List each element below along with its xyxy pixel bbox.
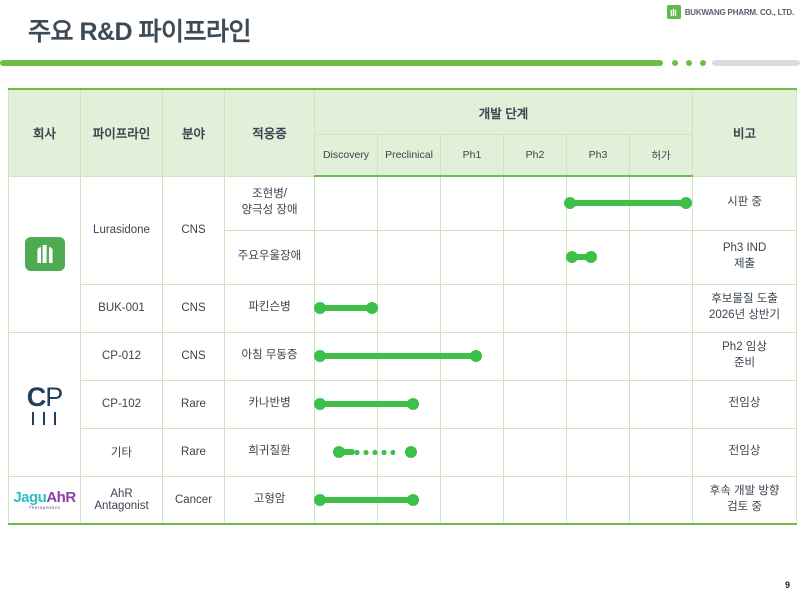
column-header-company: 회사 <box>9 89 81 176</box>
pipeline-cell: BUK-001 <box>81 284 163 332</box>
pipeline-cell: AhR Antagonist <box>81 476 163 524</box>
bukwang-logo-icon <box>25 237 65 271</box>
divider-dot <box>686 60 692 66</box>
field-cell: Rare <box>163 428 225 476</box>
column-header-note: 비고 <box>693 89 797 176</box>
stage-cell-ph2 <box>504 476 567 524</box>
divider-inactive-bar <box>712 60 800 66</box>
note-line: 2026년 상반기 <box>693 308 796 324</box>
note-line: 제출 <box>693 257 796 273</box>
stage-cell-ph2 <box>504 230 567 284</box>
stage-cell-approval <box>630 332 693 380</box>
page-title: 주요 R&D 파이프라인 <box>28 12 251 48</box>
stage-cell-ph2 <box>504 284 567 332</box>
indication-line: 조현병/ <box>225 187 314 203</box>
header-divider <box>0 59 800 67</box>
indication-cell: 희귀질환 <box>225 428 315 476</box>
table-body: Lurasidone CNS 조현병/ 양극성 장애 시판 중 주요우울장애 <box>9 176 797 524</box>
stage-cell-discovery <box>315 476 378 524</box>
therapeutics-logo-text: Therapeutics <box>29 506 61 511</box>
field-cell: Cancer <box>163 476 225 524</box>
stage-cell-preclinical <box>378 176 441 230</box>
stage-cell-ph1 <box>441 230 504 284</box>
column-header-pipeline: 파이프라인 <box>81 89 163 176</box>
indication-cell: 카나반병 <box>225 380 315 428</box>
note-line: 후보물질 도출 <box>693 292 796 308</box>
note-line: 시판 중 <box>693 195 796 211</box>
note-line: 후속 개발 방향 <box>693 484 796 500</box>
stage-cell-discovery <box>315 176 378 230</box>
stage-cell-ph3 <box>567 476 630 524</box>
field-cell: CNS <box>163 332 225 380</box>
stage-cell-ph2 <box>504 176 567 230</box>
company-cell-jaguahr: JaguAhR Therapeutics <box>9 476 81 524</box>
column-header-stage-approval: 허가 <box>630 135 693 177</box>
bukwang-logo-icon <box>667 5 681 19</box>
pipeline-cell: 기타 <box>81 428 163 476</box>
stage-cell-preclinical <box>378 230 441 284</box>
stage-cell-ph3 <box>567 284 630 332</box>
field-cell: CNS <box>163 284 225 332</box>
stage-cell-ph3 <box>567 230 630 284</box>
company-cell-bukwang <box>9 176 81 332</box>
table-row: JaguAhR Therapeutics AhR Antagonist Canc… <box>9 476 797 524</box>
table-row: CP CP-012 CNS 아침 무동증 Ph2 임상 준비 <box>9 332 797 380</box>
brand-name: BUKWANG PHARM. CO., LTD. <box>685 8 794 17</box>
stage-cell-approval <box>630 284 693 332</box>
table-header: 회사 파이프라인 분야 적응증 개발 단계 비고 Discovery Precl… <box>9 89 797 176</box>
stage-cell-discovery <box>315 284 378 332</box>
divider-accent-bar <box>0 60 663 66</box>
cp-logo-icon: CP <box>27 384 63 425</box>
stage-cell-preclinical <box>378 476 441 524</box>
stage-cell-discovery <box>315 230 378 284</box>
stage-cell-ph2 <box>504 428 567 476</box>
stage-cell-approval <box>630 230 693 284</box>
company-brand: BUKWANG PHARM. CO., LTD. <box>667 5 794 19</box>
field-cell: Rare <box>163 380 225 428</box>
table-row: Lurasidone CNS 조현병/ 양극성 장애 시판 중 <box>9 176 797 230</box>
stage-cell-approval <box>630 176 693 230</box>
note-cell: Ph2 임상 준비 <box>693 332 797 380</box>
stage-cell-discovery <box>315 332 378 380</box>
indication-cell: 고형암 <box>225 476 315 524</box>
note-line: Ph2 임상 <box>693 340 796 356</box>
stage-cell-ph2 <box>504 332 567 380</box>
stage-cell-ph1 <box>441 428 504 476</box>
pipeline-line: Antagonist <box>81 500 162 512</box>
column-header-stage-preclinical: Preclinical <box>378 135 441 177</box>
column-header-stage-group: 개발 단계 <box>315 89 693 135</box>
company-cell-cp: CP <box>9 332 81 476</box>
stage-cell-preclinical <box>378 380 441 428</box>
stage-cell-discovery <box>315 380 378 428</box>
note-line: 준비 <box>693 356 796 372</box>
pipeline-cell: CP-102 <box>81 380 163 428</box>
indication-cell: 파킨슨병 <box>225 284 315 332</box>
stage-cell-ph3 <box>567 176 630 230</box>
ahr-logo-text: AhR <box>46 489 75 506</box>
divider-dot <box>700 60 706 66</box>
indication-cell: 주요우울장애 <box>225 230 315 284</box>
stage-cell-ph2 <box>504 380 567 428</box>
stage-cell-approval <box>630 380 693 428</box>
table-row: BUK-001 CNS 파킨슨병 후보물질 도출 2026년 상반기 <box>9 284 797 332</box>
note-cell: Ph3 IND 제출 <box>693 230 797 284</box>
note-cell: 시판 중 <box>693 176 797 230</box>
table-row: 기타 Rare 희귀질환 전임상 <box>9 428 797 476</box>
jagu-logo-text: Jagu <box>13 489 46 506</box>
note-cell: 전임상 <box>693 380 797 428</box>
stage-cell-preclinical <box>378 284 441 332</box>
page-number: 9 <box>785 580 790 590</box>
stage-cell-approval <box>630 476 693 524</box>
stage-cell-discovery <box>315 428 378 476</box>
stage-cell-ph1 <box>441 380 504 428</box>
page-header: 주요 R&D 파이프라인 BUKWANG PHARM. CO., LTD. <box>0 0 800 86</box>
stage-cell-ph3 <box>567 428 630 476</box>
indication-cell: 아침 무동증 <box>225 332 315 380</box>
stage-cell-ph3 <box>567 332 630 380</box>
pipeline-cell: Lurasidone <box>81 176 163 284</box>
pipeline-cell: CP-012 <box>81 332 163 380</box>
column-header-stage-discovery: Discovery <box>315 135 378 177</box>
note-cell: 후속 개발 방향 검토 중 <box>693 476 797 524</box>
stage-cell-preclinical <box>378 332 441 380</box>
indication-line: 양극성 장애 <box>225 203 314 219</box>
field-cell: CNS <box>163 176 225 284</box>
indication-cell: 조현병/ 양극성 장애 <box>225 176 315 230</box>
stage-cell-ph1 <box>441 284 504 332</box>
pipeline-line: AhR <box>81 488 162 500</box>
stage-cell-ph3 <box>567 380 630 428</box>
jaguahr-logo-icon: JaguAhR Therapeutics <box>13 490 75 511</box>
stage-cell-ph1 <box>441 176 504 230</box>
note-line: 검토 중 <box>693 500 796 516</box>
note-cell: 후보물질 도출 2026년 상반기 <box>693 284 797 332</box>
stage-cell-ph1 <box>441 476 504 524</box>
pipeline-table: 회사 파이프라인 분야 적응증 개발 단계 비고 Discovery Precl… <box>8 88 797 525</box>
column-header-stage-ph3: Ph3 <box>567 135 630 177</box>
stage-cell-approval <box>630 428 693 476</box>
table-row: CP-102 Rare 카나반병 전임상 <box>9 380 797 428</box>
note-cell: 전임상 <box>693 428 797 476</box>
stage-cell-preclinical <box>378 428 441 476</box>
stage-cell-ph1 <box>441 332 504 380</box>
column-header-stage-ph2: Ph2 <box>504 135 567 177</box>
note-line: Ph3 IND <box>693 241 796 257</box>
column-header-indication: 적응증 <box>225 89 315 176</box>
column-header-field: 분야 <box>163 89 225 176</box>
divider-dot <box>672 60 678 66</box>
column-header-stage-ph1: Ph1 <box>441 135 504 177</box>
